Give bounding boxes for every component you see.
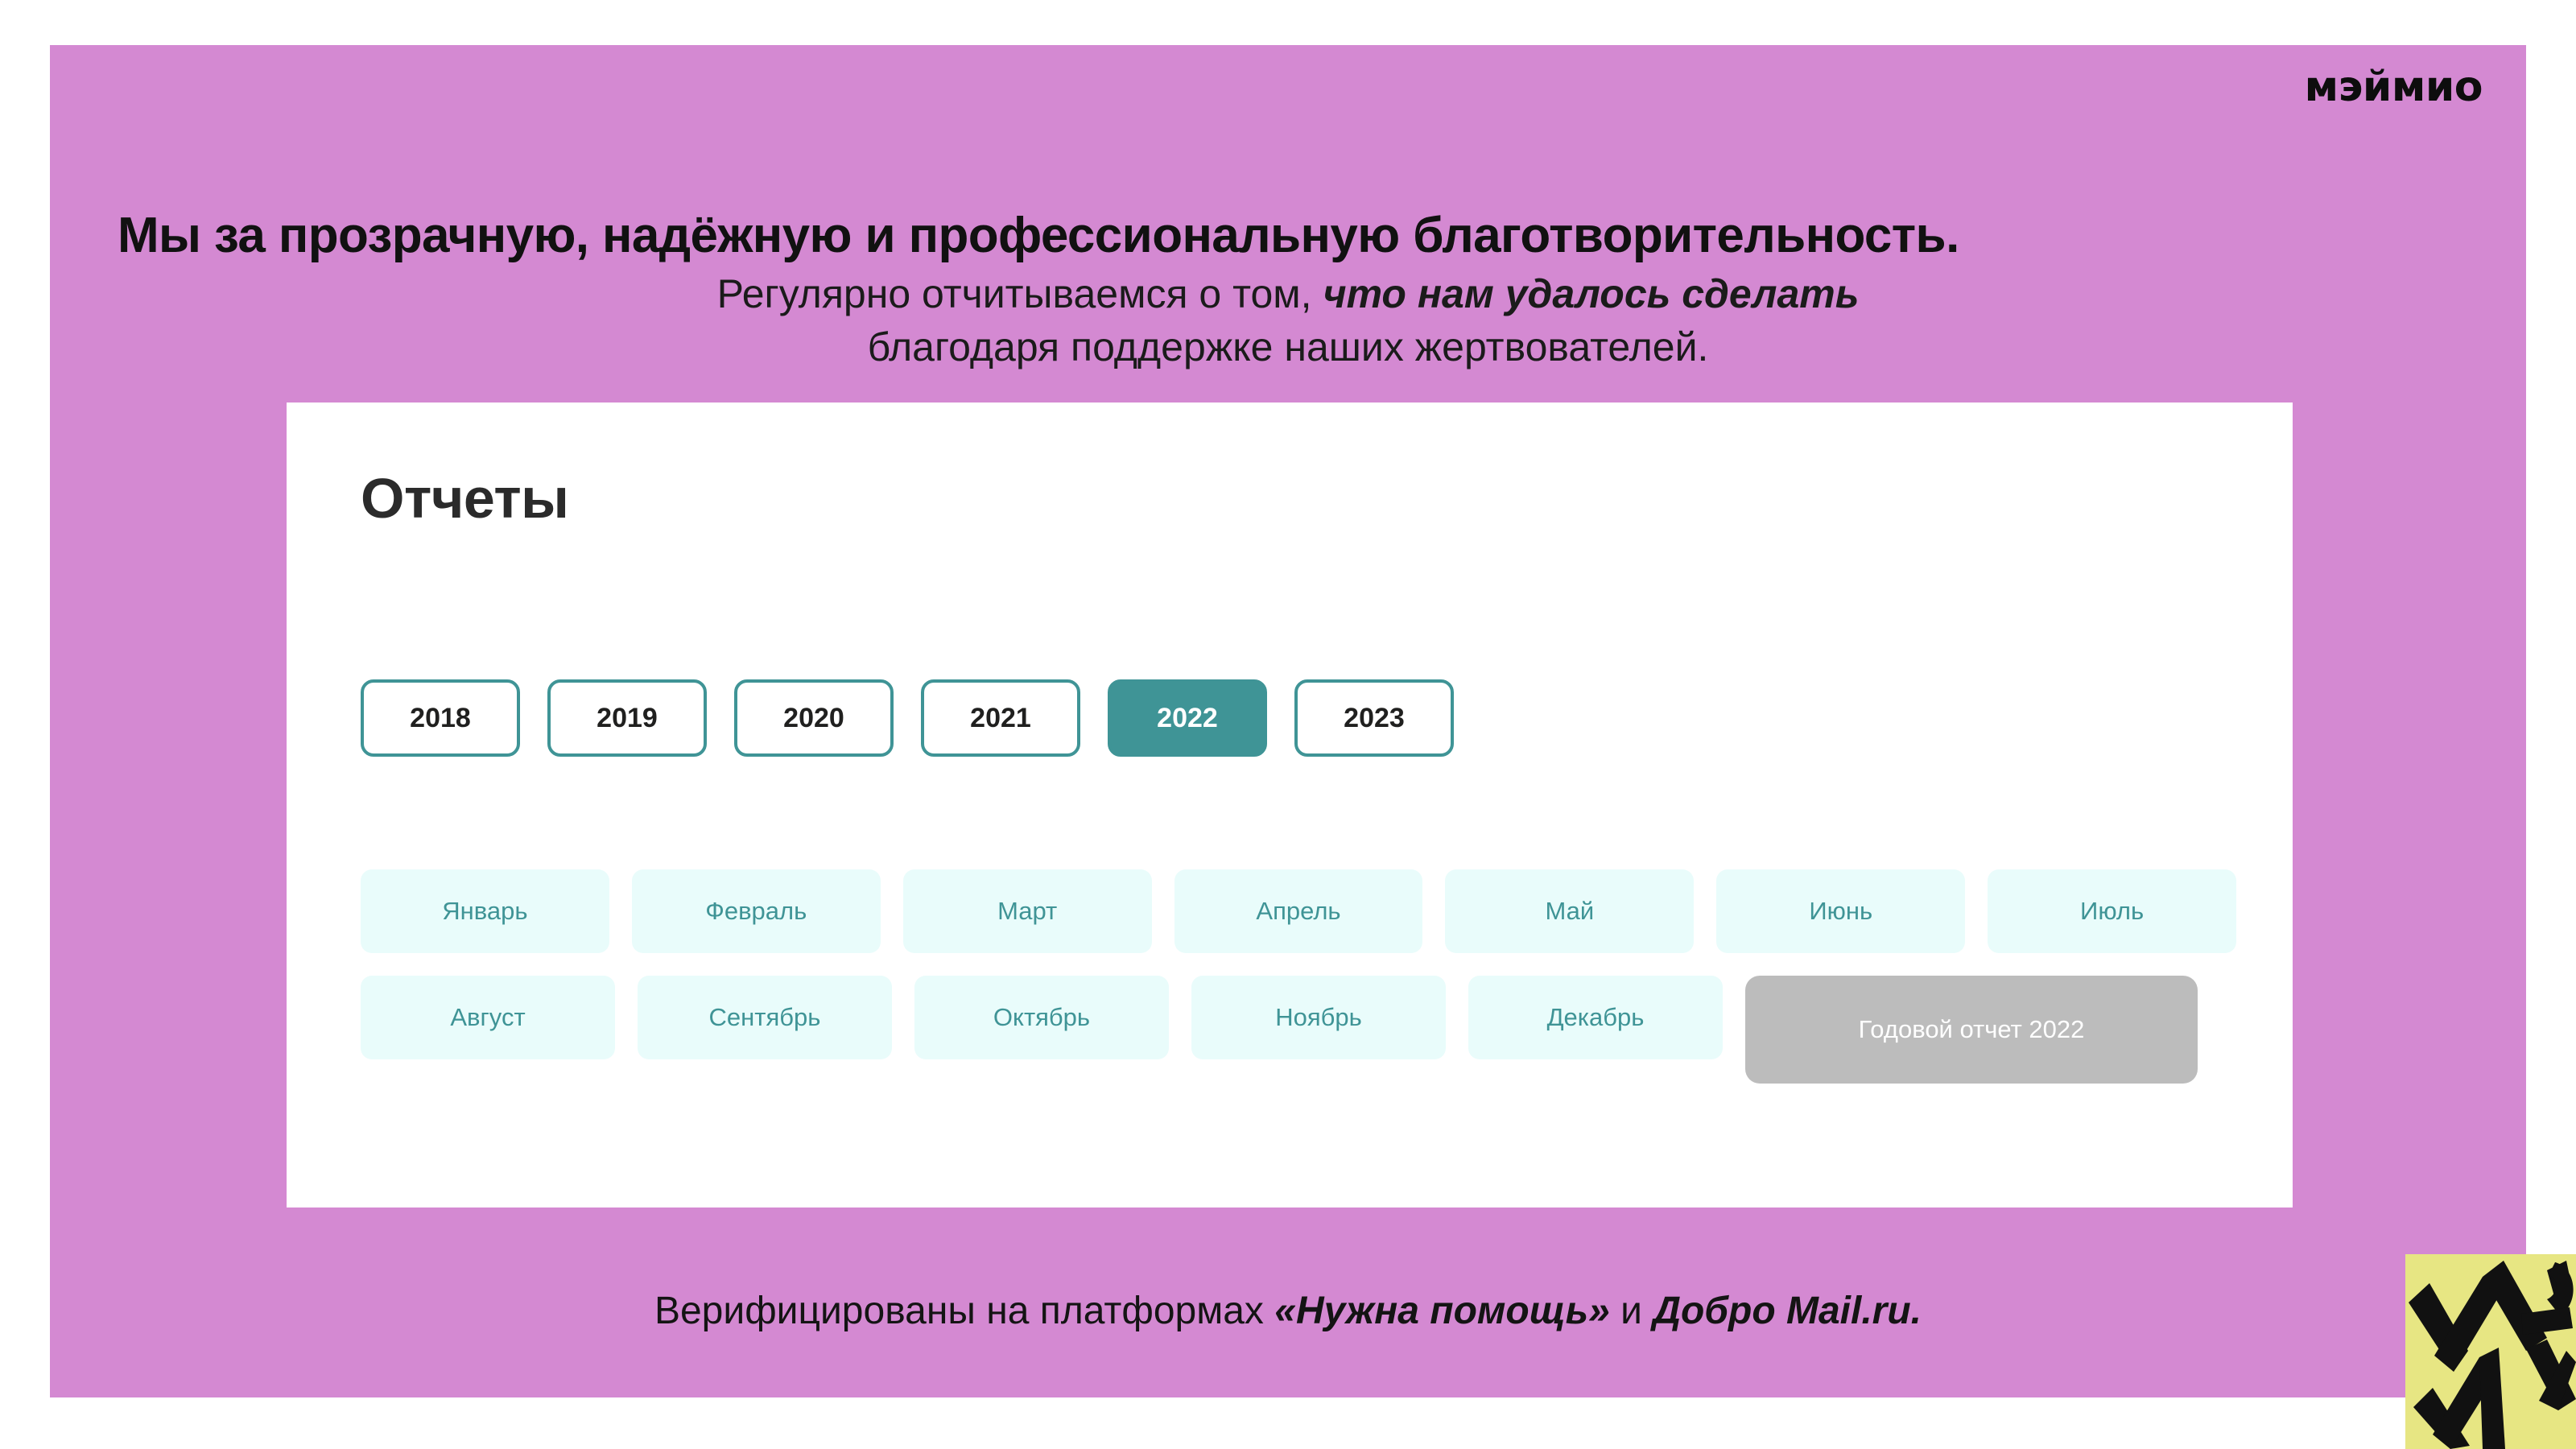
mymio-logo-badge xyxy=(2405,1254,2576,1449)
card-title: Отчеты xyxy=(361,470,568,526)
month-chip-february[interactable]: Февраль xyxy=(632,869,881,953)
year-button-2023[interactable]: 2023 xyxy=(1294,679,1454,757)
annual-report-button[interactable]: Годовой отчет 2022 xyxy=(1745,976,2198,1084)
brand-wordmark: мэймио xyxy=(2305,66,2483,108)
month-chip-november[interactable]: Ноябрь xyxy=(1191,976,1446,1059)
month-chip-june[interactable]: Июнь xyxy=(1716,869,1965,953)
month-chip-december[interactable]: Декабрь xyxy=(1468,976,1723,1059)
mymio-monogram-icon xyxy=(2405,1254,2576,1449)
verification-note: Верифицированы на платформах «Нужна помо… xyxy=(50,1288,2526,1335)
year-button-2022[interactable]: 2022 xyxy=(1108,679,1267,757)
month-chip-january[interactable]: Январь xyxy=(361,869,609,953)
reports-card: Отчеты 2018 2019 2020 2021 2022 2023 Янв… xyxy=(287,402,2293,1207)
month-chip-august[interactable]: Август xyxy=(361,976,615,1059)
subtitle-plain-part: Регулярно отчитываемся о том, xyxy=(717,271,1323,316)
year-button-2018[interactable]: 2018 xyxy=(361,679,520,757)
slide-panel: мэймио Мы за прозрачную, надёжную и проф… xyxy=(50,45,2526,1397)
subtitle-accent-part: что нам удалось сделать xyxy=(1323,271,1859,316)
year-button-2020[interactable]: 2020 xyxy=(734,679,894,757)
page-title: Мы за прозрачную, надёжную и профессиона… xyxy=(118,208,2468,263)
month-chip-october[interactable]: Октябрь xyxy=(914,976,1169,1059)
footer-platform-nuzhna-pomoshch: «Нужна помощь» xyxy=(1274,1290,1610,1332)
footer-plain-1: Верифицированы на платформах xyxy=(654,1290,1274,1332)
month-chip-may[interactable]: Май xyxy=(1445,869,1694,953)
month-chip-march[interactable]: Март xyxy=(903,869,1152,953)
year-selector: 2018 2019 2020 2021 2022 2023 xyxy=(361,679,1454,757)
month-chip-april[interactable]: Апрель xyxy=(1174,869,1423,953)
month-chip-september[interactable]: Сентябрь xyxy=(638,976,892,1059)
footer-plain-2: и xyxy=(1610,1290,1653,1332)
year-button-2019[interactable]: 2019 xyxy=(547,679,707,757)
month-report-list: Январь Февраль Март Апрель Май Июнь Июль… xyxy=(361,869,2236,1106)
subtitle-line-2: благодаря поддержке наших жертвователей. xyxy=(50,320,2526,374)
month-chip-july[interactable]: Июль xyxy=(1988,869,2236,953)
page-subtitle: Регулярно отчитываемся о том, что нам уд… xyxy=(50,267,2526,374)
month-row-1: Январь Февраль Март Апрель Май Июнь Июль xyxy=(361,869,2236,953)
footer-platform-dobro-mailru: Добро Mail.ru. xyxy=(1653,1290,1922,1332)
year-button-2021[interactable]: 2021 xyxy=(921,679,1080,757)
month-row-2: Август Сентябрь Октябрь Ноябрь Декабрь Г… xyxy=(361,976,2236,1084)
